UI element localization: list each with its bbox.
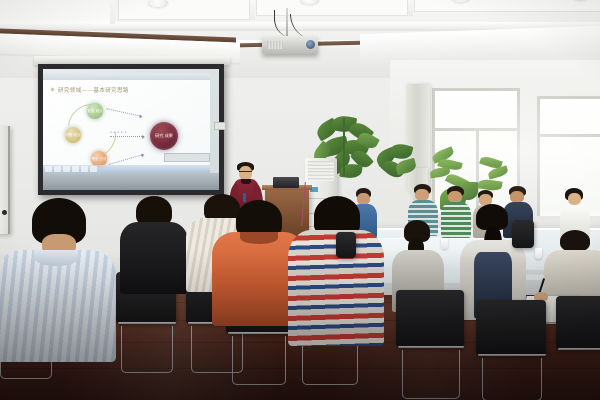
screen-bottom-bar xyxy=(43,173,219,190)
paper-cup[interactable] xyxy=(535,248,542,259)
slide-node-result-label: 研究 成果 xyxy=(155,134,173,139)
presenter-collar xyxy=(241,179,251,184)
slide-title-dash: —— xyxy=(82,88,94,94)
presentation-taskbar xyxy=(43,165,210,173)
slide-center-dots: ● ● ● ● ● xyxy=(110,130,127,134)
paper-cup[interactable] xyxy=(441,238,448,249)
attendee-blue-striped-shirt xyxy=(4,198,108,358)
office-chair[interactable] xyxy=(512,220,536,264)
slide-node-green: 数据 观点 xyxy=(87,103,103,119)
slide-node-result: 研究 成果 xyxy=(150,122,178,150)
slide-node-green-label: 数据 观点 xyxy=(87,109,102,113)
slide-title-text: 研究领域 xyxy=(58,88,82,94)
slide-node-orange-label: 理论 方法 xyxy=(91,157,106,161)
slide-footer-box xyxy=(164,153,210,162)
screen-side-button[interactable] xyxy=(214,122,226,130)
podium-laptop[interactable] xyxy=(273,177,299,188)
ceiling-projector xyxy=(262,36,318,54)
slide-subtitle-text: 基本研究思路 xyxy=(93,88,128,94)
slide-node-olive-label: 问题 观点 xyxy=(65,133,80,137)
ac-air-grille xyxy=(308,161,334,181)
office-chair[interactable] xyxy=(336,232,358,274)
slide-title: 研究领域——基本研究思路 xyxy=(58,86,129,94)
attendee-black-tshirt xyxy=(124,196,184,306)
presentation-window-titlebar xyxy=(43,73,210,80)
office-chair[interactable] xyxy=(396,290,466,400)
conference-room-photo: 研究领域——基本研究思路 数据 观点 问题 观点 理论 方法 研究 成果 ● ●… xyxy=(0,0,600,400)
office-chair[interactable] xyxy=(476,300,548,400)
slide-node-olive: 问题 观点 xyxy=(65,127,81,143)
projection-screen[interactable]: 研究领域——基本研究思路 数据 观点 问题 观点 理论 方法 研究 成果 ● ●… xyxy=(38,64,224,195)
presenter-glasses xyxy=(239,171,252,175)
projector-lens xyxy=(306,40,315,49)
office-chair[interactable] xyxy=(556,296,600,396)
projector-vent xyxy=(267,41,283,49)
